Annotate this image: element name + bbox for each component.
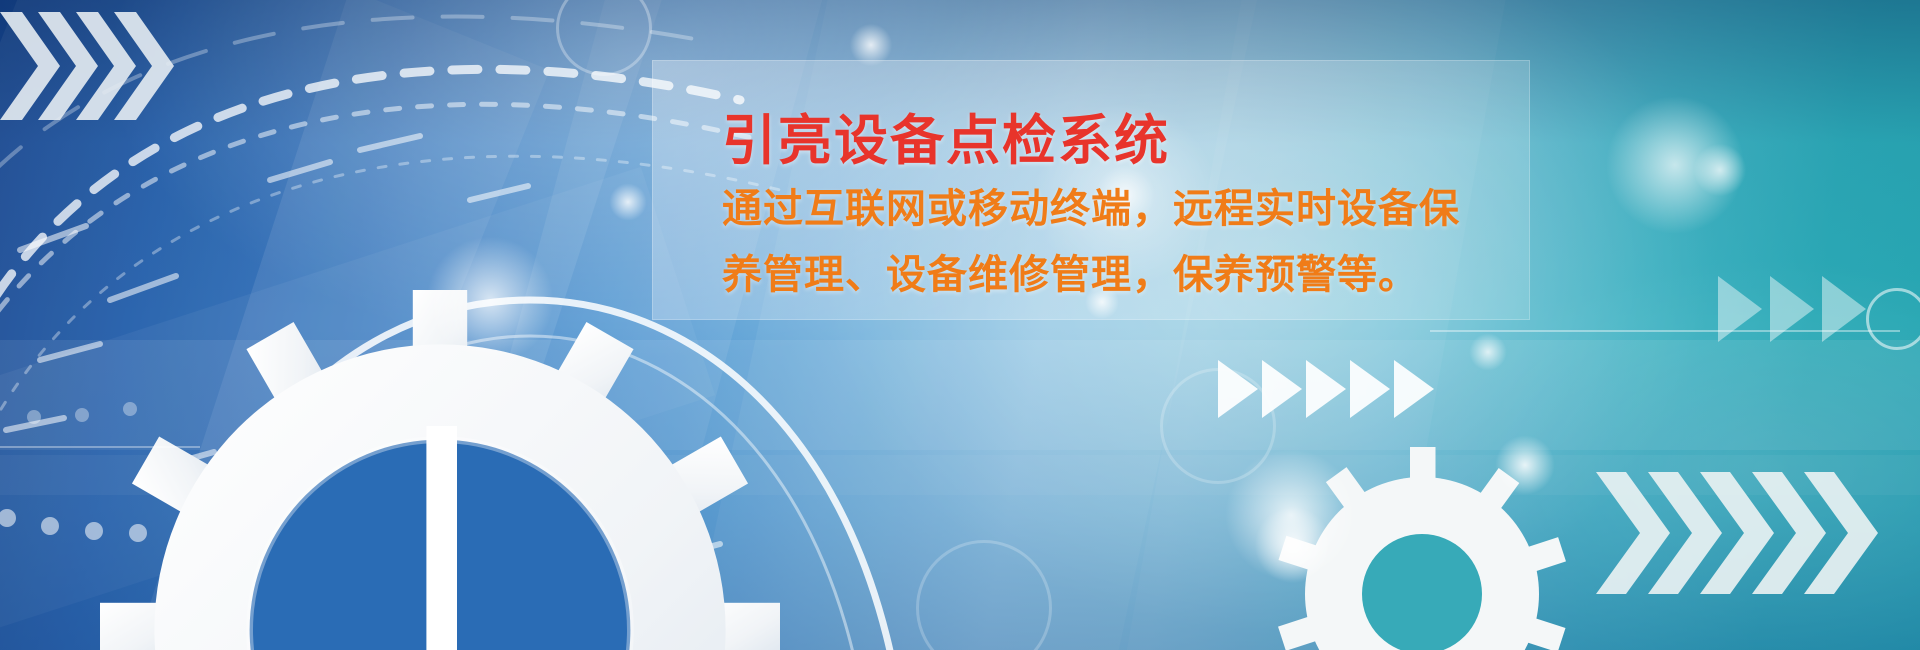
hairline-rule bbox=[1430, 330, 1900, 332]
light-flare bbox=[1490, 430, 1560, 500]
decorative-ring bbox=[1866, 288, 1920, 350]
page-title: 引亮设备点检系统 bbox=[722, 96, 1170, 175]
subtitle-line-1: 通过互联网或移动终端，远程实时设备保 bbox=[722, 176, 1460, 242]
light-flare bbox=[1248, 500, 1338, 590]
page-subtitle: 通过互联网或移动终端，远程实时设备保 养管理、设备维修管理，保养预警等。 bbox=[722, 176, 1460, 308]
light-flare bbox=[1466, 330, 1510, 374]
hairline-rule bbox=[0, 446, 200, 448]
light-flare bbox=[1690, 140, 1750, 200]
subtitle-line-2: 养管理、设备维修管理，保养预警等。 bbox=[722, 242, 1460, 308]
light-flare bbox=[420, 230, 560, 370]
hero-banner: 引亮设备点检系统 通过互联网或移动终端，远程实时设备保 养管理、设备维修管理，保… bbox=[0, 0, 1920, 650]
light-flare bbox=[606, 180, 650, 224]
